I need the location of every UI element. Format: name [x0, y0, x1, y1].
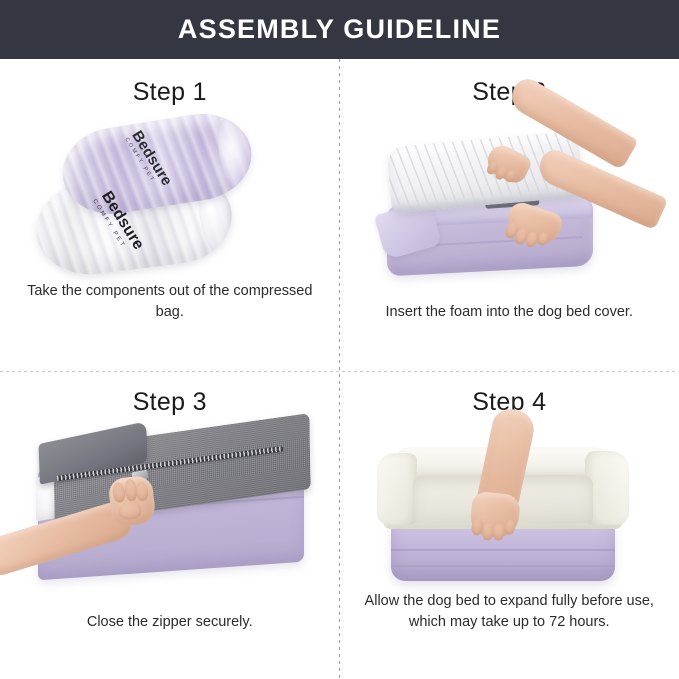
page-title: ASSEMBLY GUIDELINE [178, 14, 501, 45]
step-cell-3: Step 3 [0, 369, 340, 679]
horizontal-divider [0, 371, 679, 372]
step-2-illustration [359, 115, 659, 287]
step-3-caption: Close the zipper securely. [20, 612, 320, 633]
step-4-illustration [359, 425, 659, 597]
thumb [118, 502, 142, 520]
step-cell-2: Step 2 [340, 59, 679, 369]
step-cell-4: Step 4 [340, 369, 679, 679]
finger [112, 482, 126, 503]
step-4-caption: Allow the dog bed to expand fully before… [349, 591, 669, 633]
hand-pressing-bed-surface [469, 491, 521, 540]
step-2-caption: Insert the foam into the dog bed cover. [359, 302, 659, 323]
base-seam-upper [391, 549, 615, 551]
bolster-rim-left [377, 453, 417, 525]
hand-pulling-zipper [107, 475, 156, 527]
base-seam-lower [391, 565, 615, 567]
assembly-guideline-infographic: ASSEMBLY GUIDELINE Step 1 Bedsure [0, 0, 679, 679]
step-1-caption: Take the components out of the compresse… [20, 281, 320, 323]
step-3-illustration [20, 425, 320, 597]
step-1-title: Step 1 [133, 78, 207, 107]
vertical-divider [339, 59, 340, 679]
header-bar: ASSEMBLY GUIDELINE [0, 0, 679, 59]
finger [135, 481, 149, 501]
step-1-illustration: Bedsure COMFY PET Bedsure COMFY PET [20, 115, 320, 287]
step-3-title: Step 3 [133, 388, 207, 417]
step-cell-1: Step 1 Bedsure COMFY PET Bed [0, 59, 340, 369]
